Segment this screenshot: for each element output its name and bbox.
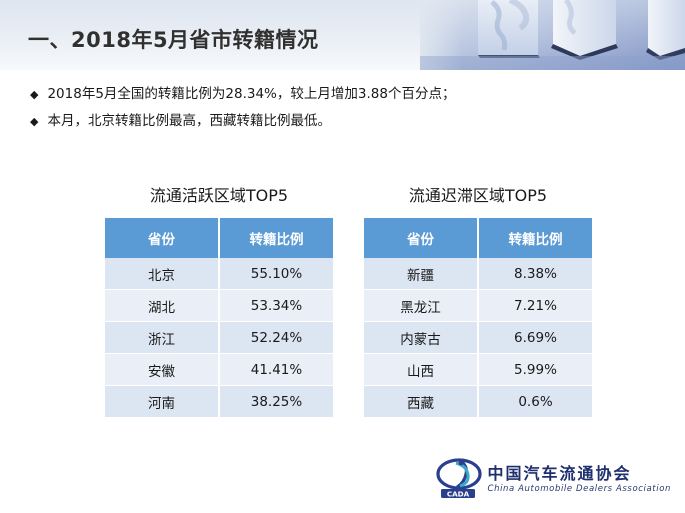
cell-province: 山西: [364, 354, 478, 386]
table-row: 河南 38.25%: [105, 386, 333, 418]
column-header-ratio: 转籍比例: [478, 218, 592, 258]
table-caption: 流通迟滞区域TOP5: [364, 182, 592, 206]
bullet-text: 本月，北京转籍比例最高，西藏转籍比例最低。: [47, 113, 331, 130]
logo-text: 中国汽车流通协会 China Automobile Dealers Associ…: [488, 466, 671, 494]
table-header-row: 省份 转籍比例: [105, 218, 333, 258]
cada-emblem-icon: CADA: [436, 457, 482, 503]
summary-bullets: ◆ 2018年5月全国的转籍比例为28.34%，较上月增加3.88个百分点； ◆…: [30, 86, 650, 140]
table-row: 西藏 0.6%: [364, 386, 592, 418]
cell-ratio: 38.25%: [219, 386, 333, 418]
table-row: 新疆 8.38%: [364, 258, 592, 290]
table-row: 浙江 52.24%: [105, 322, 333, 354]
cell-province: 浙江: [105, 322, 219, 354]
top5-table-active: 省份 转籍比例 北京 55.10% 湖北 53.34% 浙江 52.24% 安徽…: [105, 218, 333, 418]
diamond-bullet-icon: ◆: [30, 116, 38, 127]
slide-header-band: 一、2018年5月省市转籍情况: [0, 0, 685, 70]
bullet-text: 2018年5月全国的转籍比例为28.34%，较上月增加3.88个百分点；: [47, 86, 455, 103]
table-row: 湖北 53.34%: [105, 290, 333, 322]
table-header-row: 省份 转籍比例: [364, 218, 592, 258]
cell-ratio: 53.34%: [219, 290, 333, 322]
column-header-province: 省份: [105, 218, 219, 258]
cell-ratio: 5.99%: [478, 354, 592, 386]
cell-ratio: 41.41%: [219, 354, 333, 386]
table-row: 北京 55.10%: [105, 258, 333, 290]
table-block-active-regions: 流通活跃区域TOP5 省份 转籍比例 北京 55.10% 湖北 53.34% 浙…: [105, 182, 333, 418]
cell-province: 湖北: [105, 290, 219, 322]
header-decoration: [420, 0, 685, 70]
cell-province: 北京: [105, 258, 219, 290]
cell-ratio: 52.24%: [219, 322, 333, 354]
logo-name-cn: 中国汽车流通协会: [488, 466, 671, 482]
cell-province: 黑龙江: [364, 290, 478, 322]
table-row: 内蒙古 6.69%: [364, 322, 592, 354]
cell-ratio: 0.6%: [478, 386, 592, 418]
diamond-bullet-icon: ◆: [30, 89, 38, 100]
page-title: 一、2018年5月省市转籍情况: [28, 24, 319, 54]
cell-province: 新疆: [364, 258, 478, 290]
cell-province: 西藏: [364, 386, 478, 418]
table-caption: 流通活跃区域TOP5: [105, 182, 333, 206]
column-header-province: 省份: [364, 218, 478, 258]
cell-province: 安徽: [105, 354, 219, 386]
bullet-item: ◆ 2018年5月全国的转籍比例为28.34%，较上月增加3.88个百分点；: [30, 86, 650, 103]
cell-province: 内蒙古: [364, 322, 478, 354]
table-row: 黑龙江 7.21%: [364, 290, 592, 322]
table-row: 安徽 41.41%: [105, 354, 333, 386]
cell-ratio: 6.69%: [478, 322, 592, 354]
organization-logo: CADA 中国汽车流通协会 China Automobile Dealers A…: [436, 457, 671, 503]
cubes-globe-graphic: [420, 0, 685, 70]
column-header-ratio: 转籍比例: [219, 218, 333, 258]
cell-ratio: 8.38%: [478, 258, 592, 290]
cell-ratio: 7.21%: [478, 290, 592, 322]
table-block-laggard-regions: 流通迟滞区域TOP5 省份 转籍比例 新疆 8.38% 黑龙江 7.21% 内蒙…: [364, 182, 592, 418]
cell-province: 河南: [105, 386, 219, 418]
top5-table-laggard: 省份 转籍比例 新疆 8.38% 黑龙江 7.21% 内蒙古 6.69% 山西 …: [364, 218, 592, 418]
cada-emblem-text: CADA: [446, 489, 469, 498]
cell-ratio: 55.10%: [219, 258, 333, 290]
table-row: 山西 5.99%: [364, 354, 592, 386]
bullet-item: ◆ 本月，北京转籍比例最高，西藏转籍比例最低。: [30, 113, 650, 130]
logo-name-en: China Automobile Dealers Association: [488, 485, 671, 494]
